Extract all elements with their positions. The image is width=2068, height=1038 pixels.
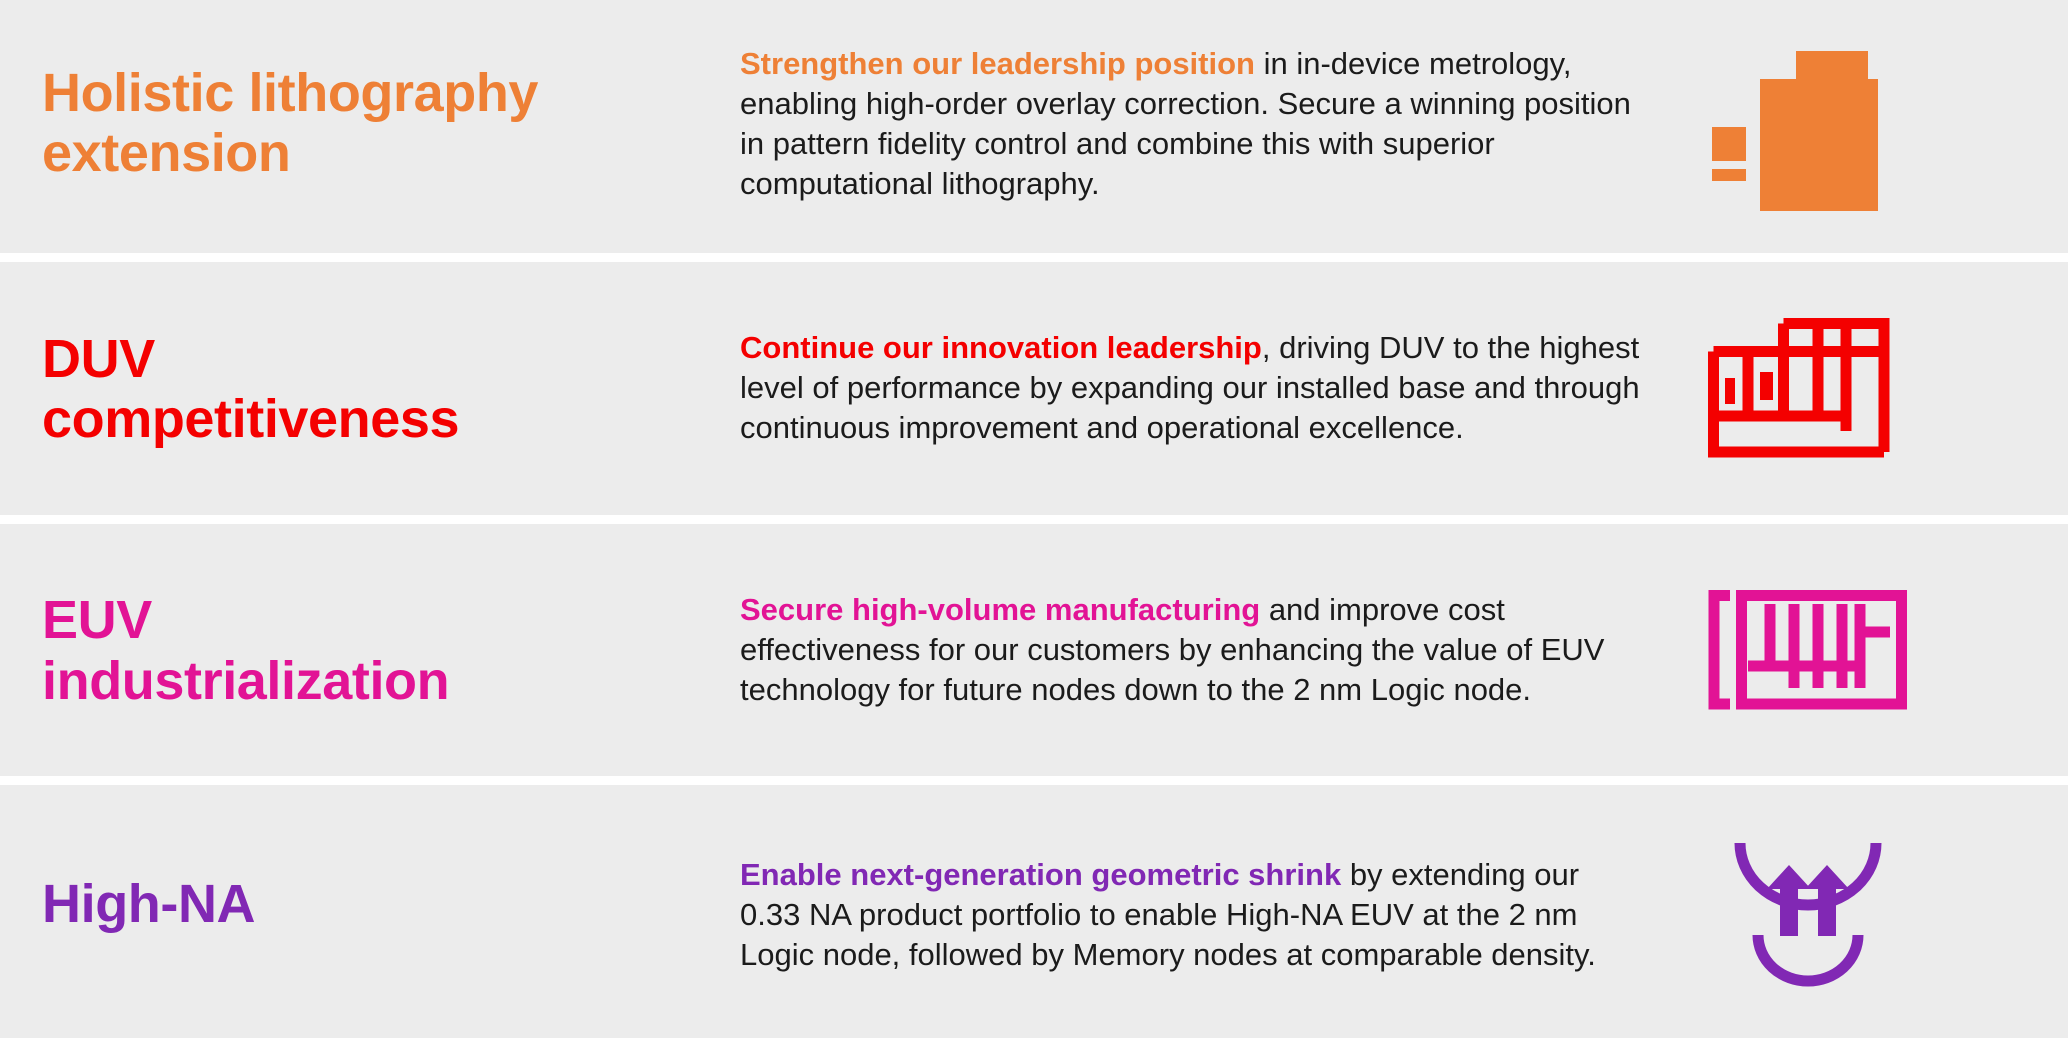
pillar-row-duv-competitiveness: DUV competitiveness Continue our innovat… bbox=[0, 262, 2068, 515]
pillar-body-column: Strengthen our leadership position in in… bbox=[740, 44, 1670, 204]
pillar-body-column: Enable next-generation geometric shrink … bbox=[740, 855, 1670, 975]
pillar-lead-phrase: Enable next-generation geometric shrink bbox=[740, 857, 1341, 892]
strategy-pillars-board: Holistic lithography extension Strengthe… bbox=[0, 0, 2068, 1038]
pillar-title-column: EUV industrialization bbox=[0, 590, 740, 711]
pillar-lead-phrase: Strengthen our leadership position bbox=[740, 46, 1255, 81]
pillar-icon-column bbox=[1670, 837, 1970, 987]
pillar-title: DUV competitiveness bbox=[42, 329, 730, 450]
high-na-optics-icon bbox=[1723, 837, 1893, 987]
pillar-description: Strengthen our leadership position in in… bbox=[740, 44, 1640, 204]
pillar-description: Secure high-volume manufacturing and imp… bbox=[740, 590, 1640, 710]
pillar-title-column: High-NA bbox=[0, 874, 740, 934]
pillar-title: Holistic lithography extension bbox=[42, 63, 730, 184]
pillar-row-euv-industrialization: EUV industrialization Secure high-volume… bbox=[0, 524, 2068, 777]
duv-scanner-icon bbox=[1708, 318, 1908, 458]
pillar-lead-phrase: Secure high-volume manufacturing bbox=[740, 592, 1260, 627]
pillar-title: EUV industrialization bbox=[42, 590, 730, 711]
pillar-icon-column bbox=[1670, 318, 1970, 458]
pillar-title-column: Holistic lithography extension bbox=[0, 63, 740, 184]
pillar-title: High-NA bbox=[42, 874, 730, 934]
euv-fab-icon bbox=[1708, 590, 1908, 710]
metrology-factory-icon bbox=[1708, 41, 1908, 211]
pillar-title-column: DUV competitiveness bbox=[0, 329, 740, 450]
pillar-lead-phrase: Continue our innovation leadership bbox=[740, 330, 1262, 365]
pillar-icon-column bbox=[1670, 590, 1970, 710]
pillar-body-column: Continue our innovation leadership, driv… bbox=[740, 328, 1670, 448]
pillar-row-high-na: High-NA Enable next-generation geometric… bbox=[0, 785, 2068, 1038]
pillar-icon-column bbox=[1670, 41, 1970, 211]
pillar-description: Enable next-generation geometric shrink … bbox=[740, 855, 1640, 975]
pillar-row-holistic-lithography-extension: Holistic lithography extension Strengthe… bbox=[0, 0, 2068, 253]
pillar-body-column: Secure high-volume manufacturing and imp… bbox=[740, 590, 1670, 710]
pillar-description: Continue our innovation leadership, driv… bbox=[740, 328, 1640, 448]
